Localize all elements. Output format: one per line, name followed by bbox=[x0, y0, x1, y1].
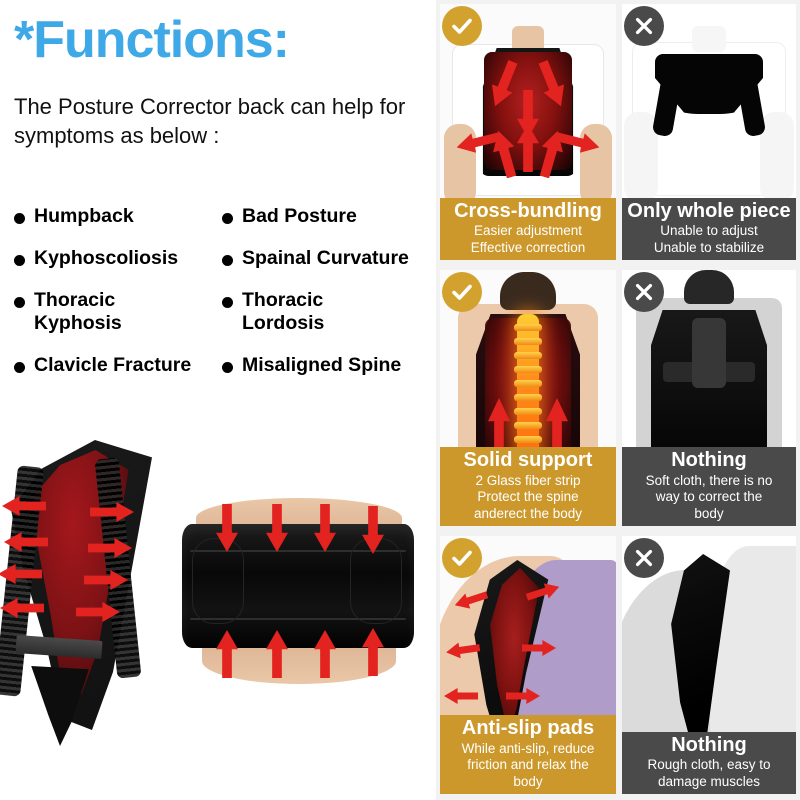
list-item-label: Thoracic Kyphosis bbox=[34, 289, 184, 337]
caption-title: Solid support bbox=[444, 450, 612, 472]
vertebra bbox=[514, 408, 542, 415]
caption-good: Cross-bundling Easier adjustment Effecti… bbox=[440, 198, 616, 260]
neck bbox=[692, 26, 726, 52]
caption-line: body bbox=[444, 774, 612, 789]
caption-title: Only whole piece bbox=[626, 201, 792, 223]
bullet-dot-icon bbox=[14, 362, 25, 373]
list-item: Thoracic Lordosis bbox=[222, 289, 434, 337]
caption-line: body bbox=[626, 506, 792, 521]
caption-line: Effective correction bbox=[444, 240, 612, 255]
hair bbox=[684, 270, 734, 304]
cross-icon bbox=[633, 15, 655, 37]
belt-side-panel bbox=[192, 538, 244, 624]
comparison-grid: Cross-bundling Easier adjustment Effecti… bbox=[436, 0, 800, 800]
list-item-label: Bad Posture bbox=[242, 205, 357, 229]
caption-good: Anti-slip pads While anti-slip, reduce f… bbox=[440, 715, 616, 794]
comparison-cell-bad[interactable]: Nothing Rough cloth, easy to damage musc… bbox=[622, 536, 796, 794]
arm-right bbox=[760, 112, 794, 202]
caption-line: anderect the body bbox=[444, 506, 612, 521]
cross-badge bbox=[624, 538, 664, 578]
comparison-cell-bad[interactable]: Only whole piece Unable to adjust Unable… bbox=[622, 4, 796, 260]
check-badge bbox=[442, 272, 482, 312]
product-image-brace bbox=[0, 440, 174, 740]
infographic-page: *Functions: The Posture Corrector back c… bbox=[0, 0, 800, 800]
list-item: Humpback bbox=[14, 205, 222, 229]
caption-line: While anti-slip, reduce bbox=[444, 741, 612, 756]
caption-bad: Nothing Rough cloth, easy to damage musc… bbox=[622, 732, 796, 794]
bullet-dot-icon bbox=[222, 255, 233, 266]
list-item: Kyphoscoliosis bbox=[14, 247, 222, 271]
caption-line: Rough cloth, easy to bbox=[626, 757, 792, 772]
cross-icon bbox=[633, 547, 655, 569]
caption-line: friction and relax the bbox=[444, 757, 612, 772]
list-item: Clavicle Fracture bbox=[14, 354, 222, 378]
list-item: Spainal Curvature bbox=[222, 247, 434, 271]
list-row: Kyphoscoliosis Spainal Curvature bbox=[14, 247, 434, 271]
caption-title: Cross-bundling bbox=[444, 201, 612, 223]
comparison-cell-good[interactable]: Anti-slip pads While anti-slip, reduce f… bbox=[440, 536, 616, 794]
list-item-label: Thoracic Lordosis bbox=[242, 289, 352, 337]
vertebra bbox=[514, 324, 542, 331]
caption-line: Unable to stabilize bbox=[626, 240, 792, 255]
comparison-row: Solid support 2 Glass fiber strip Protec… bbox=[436, 266, 800, 532]
bullet-dot-icon bbox=[14, 213, 25, 224]
vertebra bbox=[514, 380, 542, 387]
check-icon bbox=[450, 280, 474, 304]
comparison-cell-bad[interactable]: Nothing Soft cloth, there is no way to c… bbox=[622, 270, 796, 526]
list-row: Clavicle Fracture Misaligned Spine bbox=[14, 354, 434, 378]
comparison-cell-good[interactable]: Solid support 2 Glass fiber strip Protec… bbox=[440, 270, 616, 526]
vertebra bbox=[514, 338, 542, 345]
list-item-label: Humpback bbox=[34, 205, 134, 229]
caption-title: Nothing bbox=[626, 735, 792, 757]
page-title: *Functions: bbox=[14, 14, 289, 66]
bullet-dot-icon bbox=[222, 297, 233, 308]
check-badge bbox=[442, 6, 482, 46]
list-row: Thoracic Kyphosis Thoracic Lordosis bbox=[14, 289, 434, 337]
cross-badge bbox=[624, 6, 664, 46]
caption-line: damage muscles bbox=[626, 774, 792, 789]
brace-center-panel bbox=[692, 318, 726, 388]
caption-line: Protect the spine bbox=[444, 489, 612, 504]
vertebra bbox=[514, 422, 542, 429]
list-item-label: Misaligned Spine bbox=[242, 354, 401, 378]
caption-good: Solid support 2 Glass fiber strip Protec… bbox=[440, 447, 616, 526]
bullet-dot-icon bbox=[14, 255, 25, 266]
spine-glow bbox=[517, 314, 539, 466]
vertebra bbox=[514, 394, 542, 401]
caption-line: way to correct the bbox=[626, 489, 792, 504]
intro-text: The Posture Corrector back can help for … bbox=[14, 92, 426, 150]
list-item-label: Kyphoscoliosis bbox=[34, 247, 178, 271]
hair bbox=[500, 272, 556, 310]
list-item-label: Spainal Curvature bbox=[242, 247, 409, 271]
cross-icon bbox=[633, 281, 655, 303]
check-icon bbox=[450, 14, 474, 38]
vertebra bbox=[514, 366, 542, 373]
check-icon bbox=[450, 546, 474, 570]
comparison-cell-good[interactable]: Cross-bundling Easier adjustment Effecti… bbox=[440, 4, 616, 260]
list-item: Misaligned Spine bbox=[222, 354, 434, 378]
list-item: Thoracic Kyphosis bbox=[14, 289, 222, 337]
caption-line: Unable to adjust bbox=[626, 223, 792, 238]
product-image-belt bbox=[178, 498, 416, 688]
list-item: Bad Posture bbox=[222, 205, 434, 229]
caption-title: Anti-slip pads bbox=[444, 718, 612, 740]
vertebra bbox=[514, 352, 542, 359]
left-info-column: *Functions: The Posture Corrector back c… bbox=[0, 0, 436, 800]
caption-bad: Nothing Soft cloth, there is no way to c… bbox=[622, 447, 796, 526]
caption-bad: Only whole piece Unable to adjust Unable… bbox=[622, 198, 796, 260]
caption-line: Easier adjustment bbox=[444, 223, 612, 238]
symptom-list: Humpback Bad Posture Kyphoscoliosis Spai… bbox=[14, 205, 434, 378]
comparison-row: Cross-bundling Easier adjustment Effecti… bbox=[436, 0, 800, 266]
vertebra bbox=[514, 436, 542, 443]
product-photo-area bbox=[0, 420, 436, 800]
comparison-row: Anti-slip pads While anti-slip, reduce f… bbox=[436, 532, 800, 800]
list-item-label: Clavicle Fracture bbox=[34, 354, 191, 378]
list-row: Humpback Bad Posture bbox=[14, 205, 434, 229]
check-badge bbox=[442, 538, 482, 578]
caption-line: 2 Glass fiber strip bbox=[444, 473, 612, 488]
belt-side-panel bbox=[350, 538, 402, 624]
bullet-dot-icon bbox=[222, 213, 233, 224]
caption-title: Nothing bbox=[626, 450, 792, 472]
bullet-dot-icon bbox=[14, 297, 25, 308]
caption-line: Soft cloth, there is no bbox=[626, 473, 792, 488]
bullet-dot-icon bbox=[222, 362, 233, 373]
cross-badge bbox=[624, 272, 664, 312]
